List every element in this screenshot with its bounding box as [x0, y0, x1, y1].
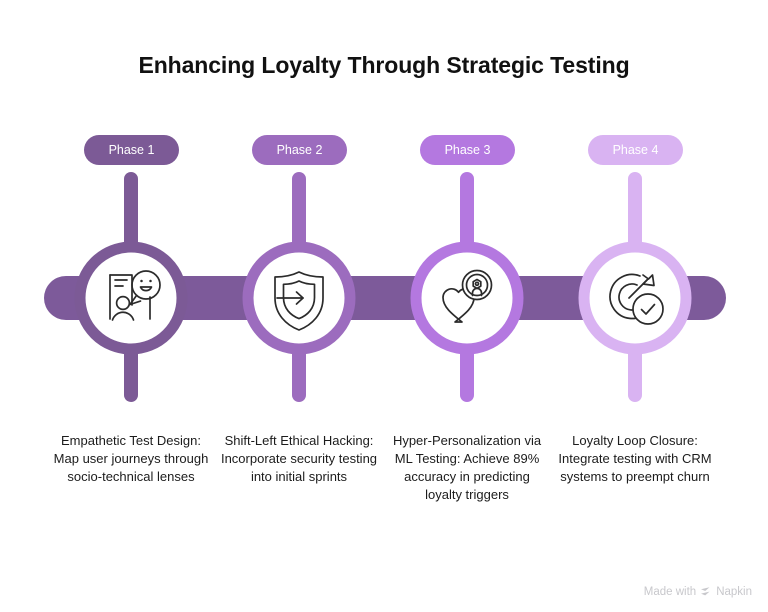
phase-2-pill[interactable]: Phase 2 — [252, 135, 347, 165]
phase-1-ring — [80, 247, 182, 349]
phase-3-ring — [416, 247, 518, 349]
phase-2-caption: Shift-Left Ethical Hacking: Incorporate … — [219, 432, 379, 486]
phase-3-pill-label: Phase 3 — [445, 143, 491, 157]
phase-4-pill[interactable]: Phase 4 — [588, 135, 683, 165]
timeline-graphic — [0, 0, 768, 612]
phase-3-caption: Hyper-Personalization via ML Testing: Ac… — [387, 432, 547, 504]
phase-1-caption: Empathetic Test Design: Map user journey… — [51, 432, 211, 486]
napkin-watermark: Made with Napkin — [644, 586, 752, 598]
watermark-prefix: Made with — [644, 586, 696, 598]
phase-1-pill[interactable]: Phase 1 — [84, 135, 179, 165]
diagram-canvas: Enhancing Loyalty Through Strategic Test… — [0, 0, 768, 612]
phase-1-pill-label: Phase 1 — [109, 143, 155, 157]
phase-3-pill[interactable]: Phase 3 — [420, 135, 515, 165]
watermark-brand: Napkin — [716, 586, 752, 598]
phase-2-pill-label: Phase 2 — [277, 143, 323, 157]
phase-4-ring — [584, 247, 686, 349]
phase-4-pill-label: Phase 4 — [613, 143, 659, 157]
napkin-logo-icon — [700, 586, 712, 598]
phase-4-caption: Loyalty Loop Closure: Integrate testing … — [555, 432, 715, 486]
